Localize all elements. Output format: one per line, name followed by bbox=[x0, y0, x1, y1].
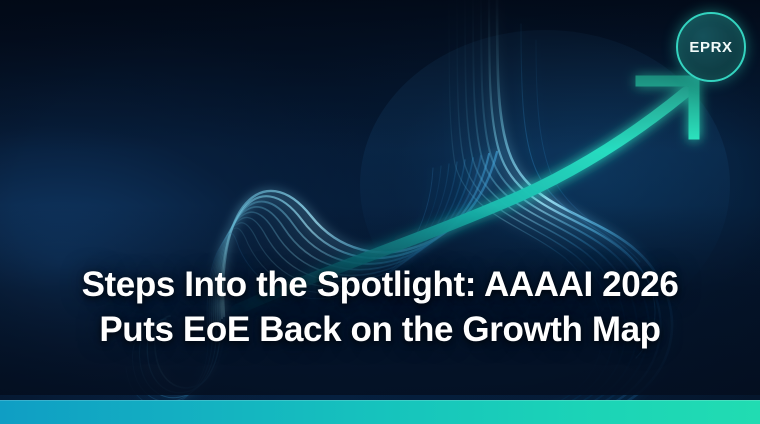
headline-line-1: Steps Into the Spotlight: AAAAI 2026 bbox=[36, 262, 724, 307]
eprx-logo-badge[interactable]: EPRX bbox=[676, 12, 746, 82]
promo-banner: EPRX Steps Into the Spotlight: AAAAI 202… bbox=[0, 0, 760, 424]
vignette-overlay bbox=[0, 0, 760, 424]
bottom-accent-bar bbox=[0, 400, 760, 424]
eprx-logo-text: EPRX bbox=[689, 39, 732, 56]
headline-line-2: Puts EoE Back on the Growth Map bbox=[36, 307, 724, 352]
page-title: Steps Into the Spotlight: AAAAI 2026 Put… bbox=[0, 262, 760, 352]
accent-bar-highlight bbox=[0, 400, 760, 401]
